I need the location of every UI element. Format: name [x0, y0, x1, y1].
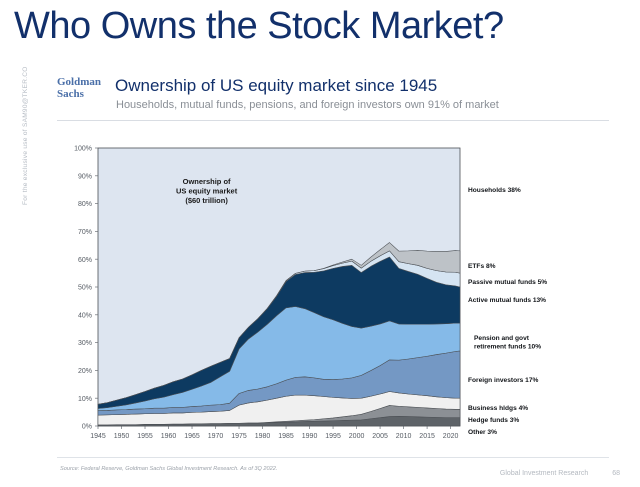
x-tick-label: 1960: [161, 433, 177, 440]
chart-title: Ownership of US equity market since 1945: [115, 76, 437, 96]
series-end-label: Active mutual funds 13%: [468, 297, 546, 304]
watermark-text: For the exclusive use of SAM90@TKER.CO: [22, 35, 29, 205]
series-end-label: Pension and govtretirement funds 10%: [474, 335, 541, 351]
series-end-label: Foreign investors 17%: [468, 377, 538, 384]
x-tick-label: 1950: [114, 433, 130, 440]
chart-plot-area: 0%10%20%30%40%50%60%70%80%90%100%1945195…: [60, 144, 580, 444]
series-end-label: Other 3%: [468, 429, 497, 436]
slide-canvas: Who Owns the Stock Market? Goldman Sachs…: [0, 0, 640, 487]
footer-divider: [57, 457, 609, 458]
x-tick-label: 2005: [372, 433, 388, 440]
y-tick-label: 30%: [78, 340, 92, 347]
footer-label: Global Investment Research: [500, 470, 588, 477]
series-end-label: Business hldgs 4%: [468, 405, 528, 412]
x-tick-label: 1970: [208, 433, 224, 440]
y-tick-label: 20%: [78, 368, 92, 375]
y-tick-label: 0%: [82, 424, 92, 431]
x-tick-label: 1945: [90, 433, 106, 440]
logo-line-1: Goldman: [57, 76, 101, 88]
series-end-label: Passive mutual funds 5%: [468, 279, 547, 286]
source-note: Source: Federal Reserve, Goldman Sachs G…: [60, 466, 277, 472]
y-tick-label: 60%: [78, 257, 92, 264]
y-tick-label: 100%: [74, 146, 92, 153]
x-tick-label: 2015: [419, 433, 435, 440]
y-tick-label: 80%: [78, 201, 92, 208]
x-tick-label: 2020: [443, 433, 459, 440]
header-divider: [57, 120, 609, 121]
chart-annotation-line: ($60 trillion): [185, 196, 228, 205]
y-tick-label: 40%: [78, 312, 92, 319]
x-tick-label: 2000: [349, 433, 365, 440]
chart-annotation-line: Ownership of: [183, 177, 231, 186]
y-tick-label: 90%: [78, 173, 92, 180]
page-number: 68: [612, 470, 620, 477]
series-end-label-text: retirement funds 10%: [474, 344, 541, 351]
series-end-label: Hedge funds 3%: [468, 417, 519, 424]
logo-line-2: Sachs: [57, 89, 109, 101]
y-tick-label: 70%: [78, 229, 92, 236]
x-tick-label: 1955: [137, 433, 153, 440]
page-title: Who Owns the Stock Market?: [14, 4, 504, 48]
chart-subtitle: Households, mutual funds, pensions, and …: [116, 99, 499, 111]
x-tick-label: 1965: [184, 433, 200, 440]
x-tick-label: 2010: [396, 433, 412, 440]
x-tick-label: 1995: [325, 433, 341, 440]
stacked-area-chart: 0%10%20%30%40%50%60%70%80%90%100%1945195…: [60, 144, 580, 444]
y-tick-label: 10%: [78, 396, 92, 403]
series-end-label-text: Pension and govt: [474, 335, 530, 342]
y-tick-label: 50%: [78, 285, 92, 292]
x-tick-label: 1990: [302, 433, 318, 440]
x-tick-label: 1985: [278, 433, 294, 440]
footer-right: Global Investment Research 68: [500, 470, 620, 477]
x-tick-label: 1980: [255, 433, 271, 440]
goldman-sachs-logo: Goldman Sachs: [57, 77, 109, 100]
chart-annotation-line: US equity market: [176, 187, 238, 196]
x-tick-label: 1975: [231, 433, 247, 440]
series-end-label: ETFs 8%: [468, 263, 496, 270]
series-end-label: Households 38%: [468, 187, 521, 194]
